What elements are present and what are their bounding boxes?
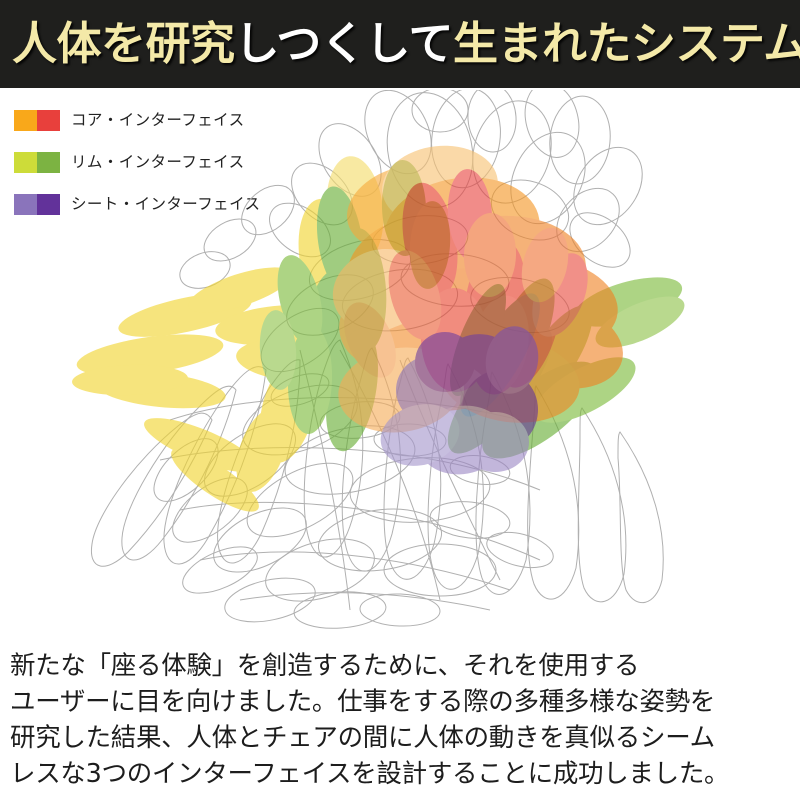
interface-diagram xyxy=(0,90,800,650)
header-bar: 人体を研究しつくして生まれたシステム xyxy=(0,0,800,88)
poster-canvas: 人体を研究しつくして生まれたシステム コア・インターフェイス リム・インターフェ… xyxy=(0,0,800,800)
page-title: 人体を研究しつくして生まれたシステム xyxy=(12,14,800,74)
title-segment-3: 生まれたシステム xyxy=(453,17,800,70)
caption-line-1: 新たな「座る体験」を創造するために、それを使用する xyxy=(10,648,800,684)
caption-line-3: 研究した結果、人体とチェアの間に人体の動きを真似るシーム xyxy=(10,720,800,756)
caption-line-2: ユーザーに目を向けました。仕事をする際の多種多様な姿勢を xyxy=(10,684,800,720)
title-segment-2: しつくして xyxy=(235,17,453,70)
caption-block: 新たな「座る体験」を創造するために、それを使用する ユーザーに目を向けました。仕… xyxy=(10,648,800,792)
title-segment-1: 人体を研究 xyxy=(12,17,235,70)
caption-line-4: レスな3つのインターフェイスを設計することに成功しました。 xyxy=(10,756,800,792)
